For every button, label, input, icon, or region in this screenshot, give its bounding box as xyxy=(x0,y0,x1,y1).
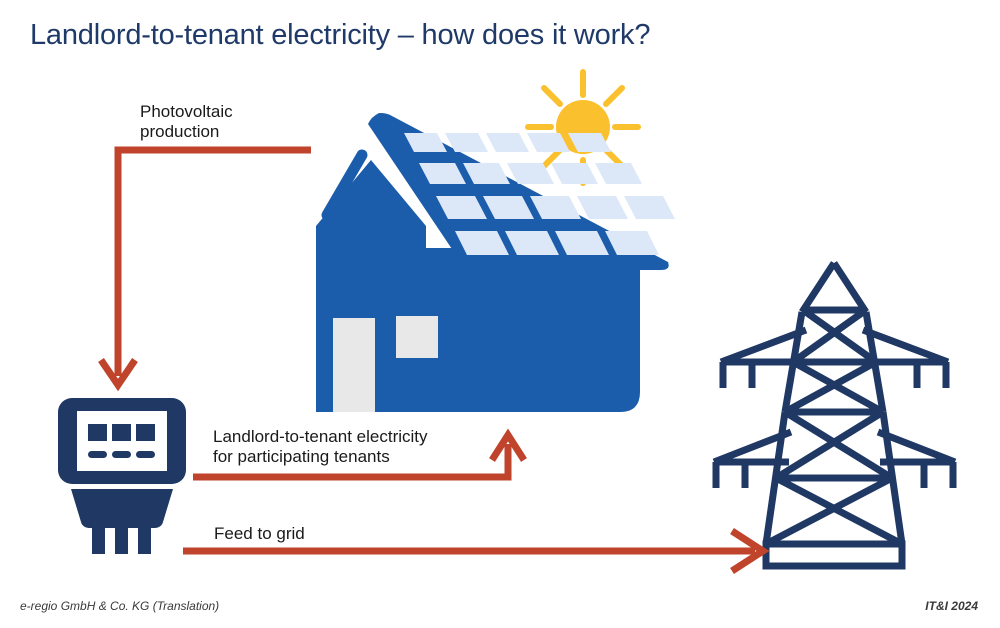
house-window xyxy=(396,316,438,358)
power-pylon-icon xyxy=(714,263,955,566)
label-photovoltaic-production: Photovoltaic production xyxy=(140,102,233,142)
meter-display-dash xyxy=(112,451,131,458)
label-feed-to-grid: Feed to grid xyxy=(214,524,305,544)
meter-display-dash xyxy=(136,451,155,458)
roof-edge-stub xyxy=(327,155,362,215)
meter-display-block xyxy=(136,424,155,441)
slide-canvas: Landlord-to-tenant electricity – how doe… xyxy=(0,0,1000,628)
footer-credit: IT&I 2024 xyxy=(925,599,978,613)
label-photovoltaic-line1: Photovoltaic xyxy=(140,102,233,122)
label-landlord-to-tenant-line1: Landlord-to-tenant electricity xyxy=(213,427,428,447)
label-photovoltaic-line2: production xyxy=(140,122,233,142)
house-icon xyxy=(316,155,640,412)
meter-base xyxy=(71,489,173,528)
label-landlord-to-tenant: Landlord-to-tenant electricity for parti… xyxy=(213,427,428,467)
solar-panel xyxy=(360,113,690,270)
electricity-meter-icon xyxy=(58,398,186,554)
diagram-graphics xyxy=(0,0,1000,628)
meter-leg xyxy=(138,528,151,554)
page-title: Landlord-to-tenant electricity – how doe… xyxy=(30,19,650,52)
meter-leg xyxy=(92,528,105,554)
arrow-photovoltaic-production xyxy=(101,150,311,385)
meter-display-block xyxy=(112,424,131,441)
meter-display-dash xyxy=(88,451,107,458)
solar-panel-cells xyxy=(404,133,675,255)
meter-display-block xyxy=(88,424,107,441)
sun-icon xyxy=(528,72,638,183)
sun-disc xyxy=(556,100,610,154)
meter-leg xyxy=(115,528,128,554)
house-door xyxy=(333,318,375,412)
footer-source: e-regio GmbH & Co. KG (Translation) xyxy=(20,599,219,613)
label-landlord-to-tenant-line2: for participating tenants xyxy=(213,447,428,467)
